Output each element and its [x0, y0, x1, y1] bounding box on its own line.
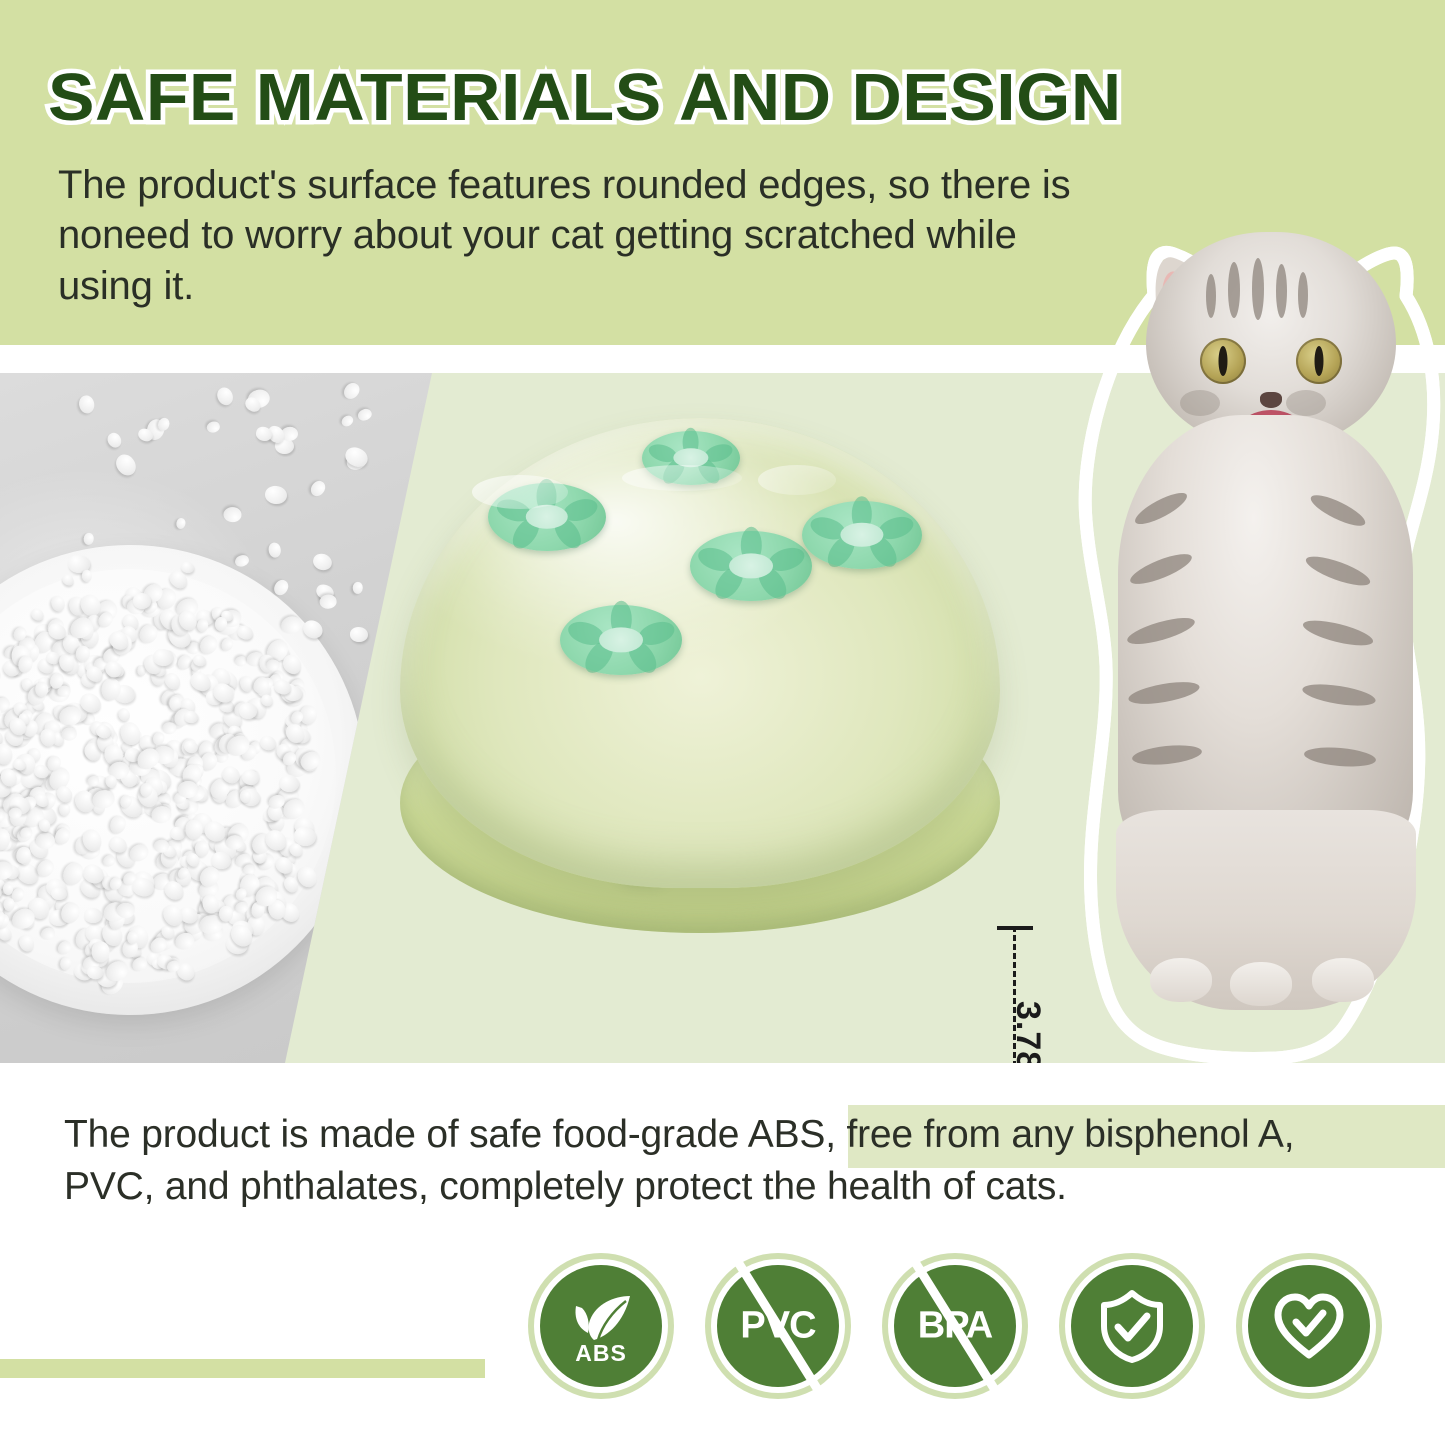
cat-paw: [1150, 958, 1212, 1002]
cat-stripe: [1228, 262, 1240, 318]
cat-eye-right: [1296, 338, 1342, 384]
cat-body: [1088, 210, 1418, 1060]
dome-glint: [758, 465, 836, 495]
cat-cheek: [1286, 390, 1326, 416]
plastic-pellet: [267, 659, 280, 670]
plastic-pellet: [206, 420, 221, 434]
badge-no-pvc[interactable]: PVC: [717, 1265, 839, 1387]
flower-petal: [610, 601, 631, 638]
plastic-pellet: [215, 385, 237, 408]
cat-puzzle-toy-photo: [360, 373, 1040, 1063]
flower-petal: [635, 618, 676, 649]
plastic-pellet: [267, 542, 282, 559]
cat-stripe: [1252, 258, 1264, 320]
infographic-page: SAFE MATERIALS AND DESIGN The product's …: [0, 0, 1445, 1445]
plastic-pellet: [84, 533, 95, 545]
flower-petal: [740, 527, 761, 564]
leaf-icon: [568, 1292, 634, 1344]
cat-paw: [1312, 958, 1374, 1002]
cat-cheek: [1180, 390, 1220, 416]
cat-nose: [1260, 392, 1282, 408]
plastic-pellet: [233, 553, 250, 569]
flower-petal: [683, 427, 699, 456]
cat-stripe: [1298, 272, 1308, 318]
plastic-pellet: [319, 594, 337, 610]
cat-paw: [1230, 962, 1292, 1006]
certification-badges: ABS PVC BPA: [540, 1246, 1370, 1406]
badge-abs-label: ABS: [540, 1340, 662, 1367]
cat-stripe: [1206, 274, 1216, 318]
plastic-pellet: [117, 903, 135, 918]
plastic-pellet: [112, 450, 140, 479]
plastic-pellet: [265, 485, 288, 505]
toy-flower-cover: [802, 501, 922, 569]
height-dimension-label: 3.78IN: [1008, 1001, 1047, 1063]
plastic-pellet: [50, 886, 66, 900]
plastic-pellet: [312, 551, 335, 572]
plastic-pellet: [177, 780, 198, 798]
toy-flower-cover: [690, 531, 812, 601]
toy-flower-cover: [560, 605, 682, 675]
badge-heart-check[interactable]: [1248, 1265, 1370, 1387]
plastic-pellet: [175, 517, 186, 530]
flower-petal: [807, 513, 848, 544]
accent-bar: [0, 1359, 485, 1378]
badge-no-bpa[interactable]: BPA: [894, 1265, 1016, 1387]
dome-glint: [622, 465, 742, 491]
cat-eye-left: [1200, 338, 1246, 384]
plastic-pellet: [105, 430, 124, 450]
flower-petal: [566, 618, 607, 649]
material-description: The product is made of safe food-grade A…: [64, 1109, 1384, 1213]
plastic-pellet: [308, 478, 328, 499]
bottom-section: The product is made of safe food-grade A…: [0, 1063, 1445, 1445]
cat-stripe: [1276, 264, 1287, 318]
plastic-pellet: [78, 394, 96, 415]
badge-abs[interactable]: ABS: [540, 1265, 662, 1387]
plastic-pellet: [223, 507, 242, 523]
flower-petal: [765, 544, 806, 575]
heart-check-icon: [1272, 1291, 1346, 1361]
badge-shield-check[interactable]: [1071, 1265, 1193, 1387]
flower-petal: [647, 441, 680, 465]
plastic-pellet: [4, 898, 15, 911]
dome-glint: [472, 475, 568, 509]
flower-petal: [696, 544, 737, 575]
page-title: SAFE MATERIALS AND DESIGN: [48, 63, 1122, 133]
cat-photo-cutout: [1046, 200, 1445, 1066]
cat-pupil: [1219, 346, 1228, 376]
plastic-pellet: [339, 413, 355, 429]
shield-check-icon: [1096, 1288, 1168, 1364]
header-subtitle: The product's surface features rounded e…: [58, 160, 1088, 311]
flower-petal: [852, 497, 872, 533]
cat-pupil: [1315, 346, 1324, 376]
